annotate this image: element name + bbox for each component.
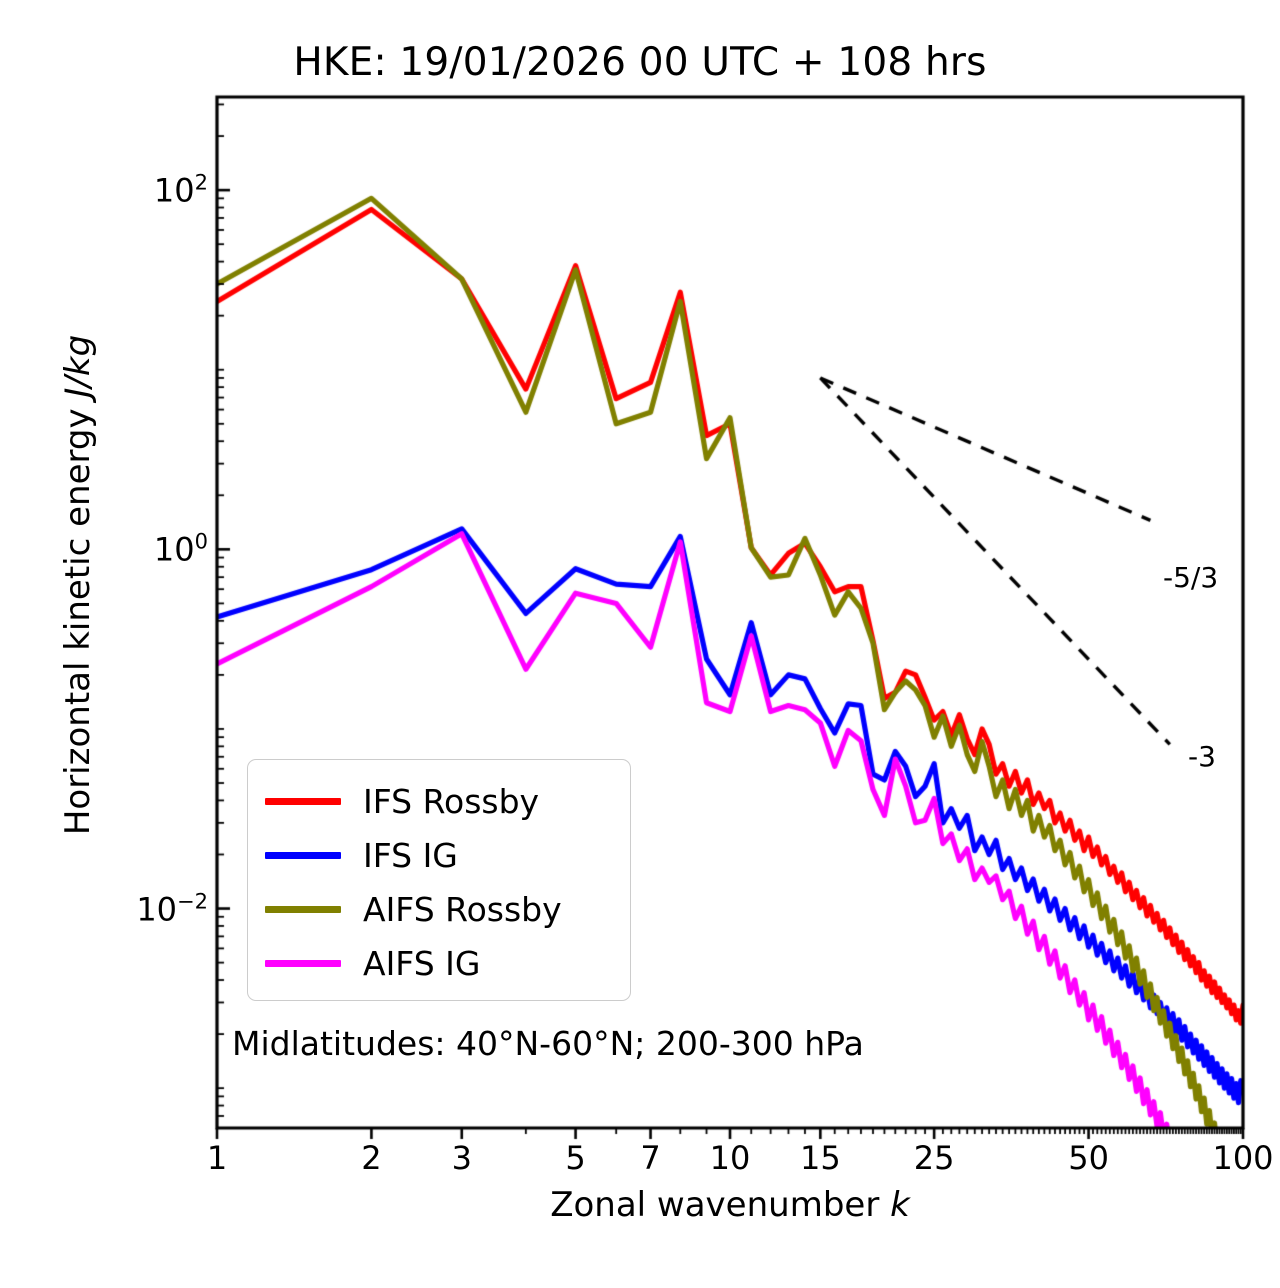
y-tick-label: 100 [154,530,208,569]
region-annotation: Midlatitudes: 40°N-60°N; 200-300 hPa [232,1024,864,1063]
x-tick-label: 7 [640,1139,660,1177]
legend-color-swatch [265,960,341,967]
x-tick-label: 100 [1212,1139,1273,1177]
slope-label-five-thirds: -5/3 [1163,561,1218,594]
x-tick-label: 15 [800,1139,841,1177]
x-tick-label: 1 [207,1139,227,1177]
x-tick-label: 10 [710,1139,751,1177]
legend-color-swatch [265,906,341,913]
legend-item[interactable]: AIFS IG [248,936,630,990]
x-tick-label: 3 [452,1139,472,1177]
legend-item-label: IFS Rossby [363,785,539,818]
legend-item-label: AIFS IG [363,947,480,980]
y-axis-label-text: Horizontal kinetic energy [58,398,98,836]
y-axis-label: Horizontal kinetic energy J/kg [52,205,104,965]
slope-label-three: -3 [1188,740,1216,773]
y-tick-label: 102 [154,171,208,210]
legend-item[interactable]: AIFS Rossby [248,882,630,936]
x-tick-label: 5 [565,1139,585,1177]
y-tick-label: 10−2 [136,889,208,928]
x-axis-label-text: Zonal wavenumber [550,1185,890,1225]
x-tick-label: 2 [361,1139,381,1177]
x-tick-label: 50 [1068,1139,1109,1177]
chart-page: HKE: 19/01/2026 00 UTC + 108 hrs Horizon… [0,0,1280,1288]
legend: IFS RossbyIFS IGAIFS RossbyAIFS IG [247,759,631,1001]
x-axis-label: Zonal wavenumber k [217,1185,1243,1225]
x-tick-label: 25 [914,1139,955,1177]
legend-item[interactable]: IFS IG [248,828,630,882]
legend-item[interactable]: IFS Rossby [248,774,630,828]
legend-color-swatch [265,852,341,859]
x-axis-label-sym: k [890,1185,910,1225]
legend-item-label: AIFS Rossby [363,893,562,926]
y-axis-label-unit: J/kg [58,335,98,398]
legend-color-swatch [265,798,341,805]
legend-item-label: IFS IG [363,839,458,872]
